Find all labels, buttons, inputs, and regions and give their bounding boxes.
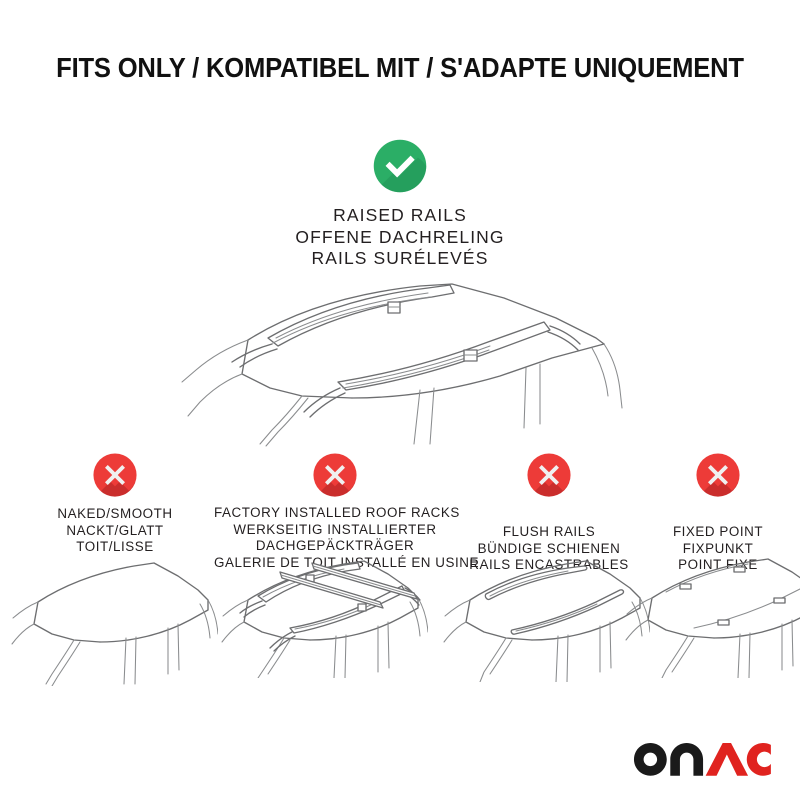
compatible-section: RAISED RAILS OFFENE DACHRELING RAILS SUR… [0, 138, 800, 270]
incompatible-naked-labels: NAKED/SMOOTH NACKT/GLATT TOIT/LISSE [18, 506, 212, 556]
cross-circle-icon [312, 452, 358, 498]
compatible-label-de: OFFENE DACHRELING [0, 227, 800, 249]
cross-circle-icon [92, 452, 138, 498]
logo-letter-a [706, 743, 748, 776]
compatible-label-en: RAISED RAILS [0, 205, 800, 227]
label-en: FLUSH RAILS [456, 524, 642, 541]
label-de-1: WERKSEITIG INSTALLIERTER [214, 522, 456, 539]
cross-circle-icon [695, 452, 741, 498]
logo-letter-c [747, 743, 771, 776]
page-title: FITS ONLY / KOMPATIBEL MIT / S'ADAPTE UN… [28, 52, 772, 84]
omac-logo [633, 742, 772, 778]
cross-circle-icon [526, 452, 572, 498]
label-de: NACKT/GLATT [18, 523, 212, 540]
car-roof-naked-illustration [8, 556, 218, 686]
incompatible-item-naked: NAKED/SMOOTH NACKT/GLATT TOIT/LISSE [18, 452, 212, 556]
car-roof-raised-rails-illustration [152, 278, 652, 448]
compatible-labels: RAISED RAILS OFFENE DACHRELING RAILS SUR… [0, 205, 800, 270]
car-roof-flush-rails-illustration [440, 552, 650, 682]
logo-letter-m [670, 743, 703, 776]
label-en: NAKED/SMOOTH [18, 506, 212, 523]
label-fr: TOIT/LISSE [18, 539, 212, 556]
check-circle-icon [372, 138, 428, 194]
compatible-label-fr: RAILS SURÉLEVÉS [0, 248, 800, 270]
label-en: FIXED POINT [642, 524, 794, 541]
fitment-infographic: FITS ONLY / KOMPATIBEL MIT / S'ADAPTE UN… [0, 0, 800, 800]
logo-letter-o [634, 743, 667, 776]
car-roof-factory-racks-illustration [218, 548, 428, 678]
car-roof-fixed-point-illustration [622, 548, 800, 678]
label-en: FACTORY INSTALLED ROOF RACKS [214, 505, 456, 522]
